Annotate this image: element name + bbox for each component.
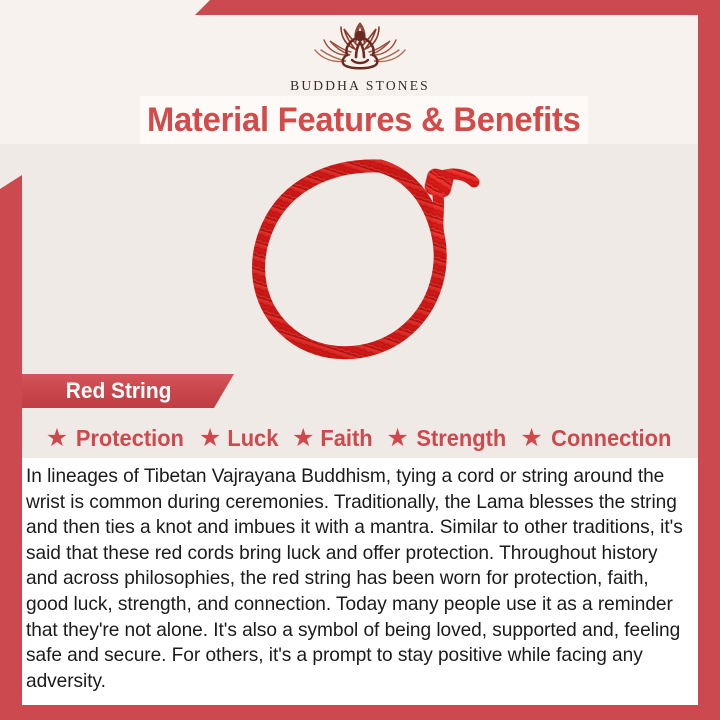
- frame-band-bottom: [0, 705, 720, 720]
- star-icon: ★: [292, 426, 314, 451]
- benefit-label: Strength: [416, 425, 506, 452]
- description-text: In lineages of Tibetan Vajrayana Buddhis…: [26, 464, 684, 694]
- star-icon: ★: [46, 426, 68, 451]
- benefit-item-luck: ★ Luck: [199, 425, 280, 452]
- page-title-band: Material Features & Benefits: [140, 96, 588, 144]
- benefit-label: Connection: [551, 425, 671, 452]
- infographic-root: BUDDHA STONES Material Features & Benefi…: [0, 0, 720, 720]
- frame-band-right: [698, 15, 720, 720]
- benefit-item-connection: ★ Connection: [520, 425, 674, 452]
- star-icon: ★: [386, 426, 408, 451]
- red-string-bracelet-illustration: [230, 152, 490, 362]
- benefit-label: Luck: [228, 425, 279, 452]
- benefit-item-strength: ★ Strength: [386, 425, 508, 452]
- benefit-label: Faith: [321, 425, 373, 452]
- frame-band-left: [0, 175, 22, 705]
- star-icon: ★: [199, 426, 221, 451]
- benefit-item-protection: ★ Protection: [46, 425, 187, 452]
- frame-band-top: [195, 0, 720, 15]
- benefit-label: Protection: [76, 425, 184, 452]
- ribbon-label: Red String: [26, 378, 172, 404]
- product-image: [0, 144, 720, 369]
- description-panel: In lineages of Tibetan Vajrayana Buddhis…: [22, 458, 720, 705]
- page-title: Material Features & Benefits: [147, 101, 581, 140]
- brand-name: BUDDHA STONES: [290, 78, 430, 94]
- brand-logo: BUDDHA STONES: [0, 14, 720, 94]
- benefits-list: ★ Protection ★ Luck ★ Faith ★ Strength ★…: [22, 420, 698, 456]
- lotus-meditation-icon: [308, 14, 412, 76]
- red-string-ribbon: Red String: [22, 374, 234, 408]
- star-icon: ★: [520, 426, 542, 451]
- benefit-item-faith: ★ Faith: [292, 425, 374, 452]
